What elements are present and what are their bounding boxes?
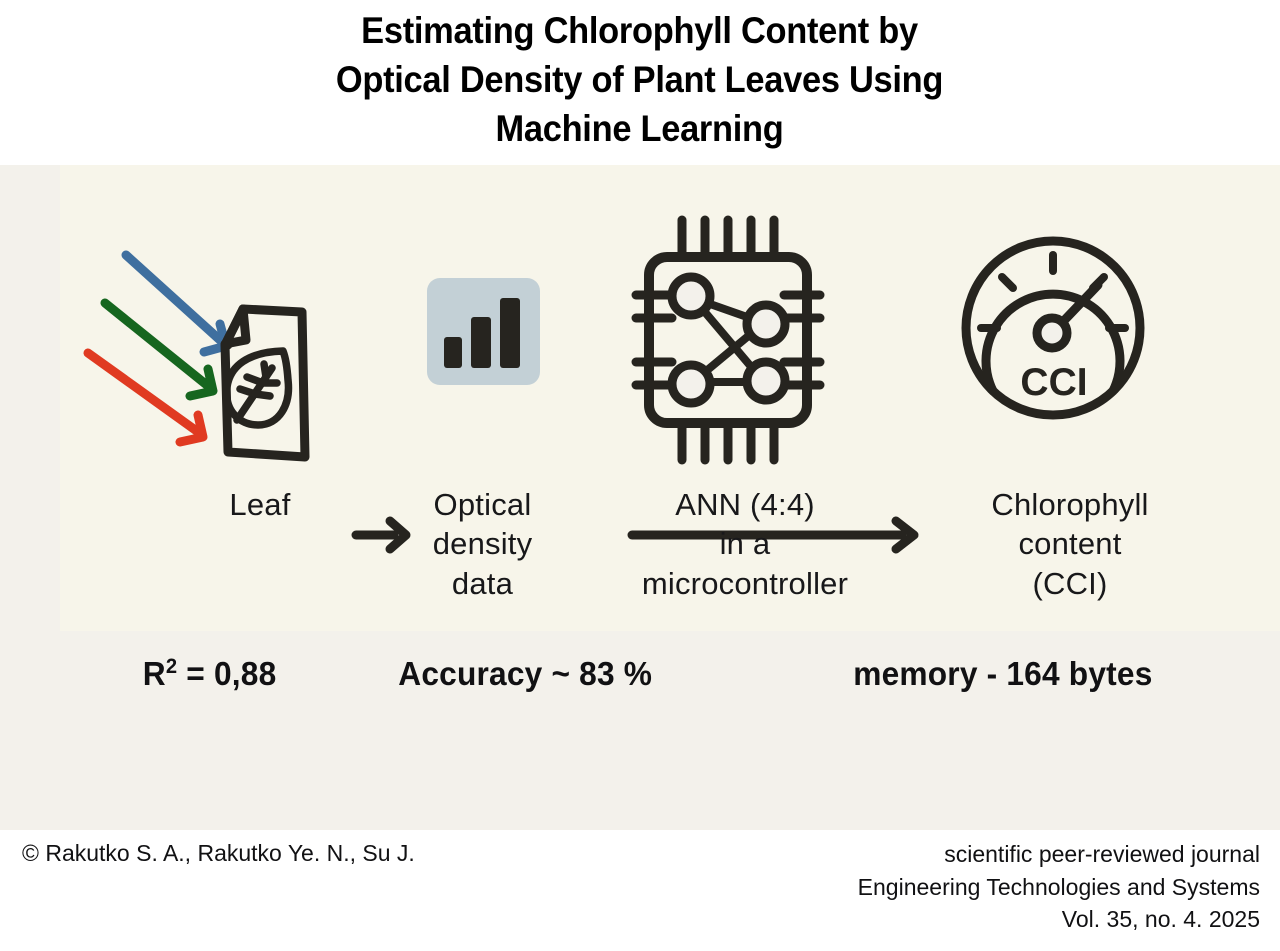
metrics-row: R2 = 0,88 Accuracy ~ 83 % memory - 164 b… — [0, 655, 1280, 715]
leaf-document-icon — [80, 220, 380, 480]
stage-label-optical-density: Optical density data — [385, 485, 580, 603]
leaf-glyph — [227, 351, 289, 425]
bar-chart-icon — [400, 220, 580, 480]
microchip-neural-network-icon — [600, 210, 880, 480]
gauge-icon: CCI — [950, 215, 1180, 475]
metric-r-squared-value: = 0,88 — [177, 655, 276, 692]
pipeline-icon-row: CCI — [0, 165, 1280, 495]
title-band: Estimating Chlorophyll Content by Optica… — [0, 0, 1280, 165]
metric-memory: memory - 164 bytes — [853, 655, 1152, 693]
page-title: Estimating Chlorophyll Content by Optica… — [336, 7, 943, 153]
gauge-hub — [1037, 318, 1067, 348]
journal-info: scientific peer-reviewed journal Enginee… — [858, 838, 1260, 936]
metric-r-squared: R2 = 0,88 — [143, 655, 277, 693]
metric-r-squared-superscript: 2 — [166, 655, 177, 678]
bar-3 — [500, 298, 520, 368]
stage-chlorophyll-content: CCI — [950, 215, 1180, 475]
stage-label-leaf: Leaf — [150, 485, 370, 524]
stage-optical-density — [400, 220, 580, 480]
bar-1 — [444, 337, 462, 368]
stage-label-ann-microcontroller: ANN (4:4) in a microcontroller — [595, 485, 895, 603]
stage-leaf — [80, 220, 380, 480]
bar-2 — [471, 317, 491, 368]
copyright-notice: © Rakutko S. A., Rakutko Ye. N., Su J. — [22, 840, 415, 867]
metric-r-squared-prefix: R — [143, 655, 166, 692]
footer: © Rakutko S. A., Rakutko Ye. N., Su J. s… — [0, 830, 1280, 951]
gauge-label: CCI — [1020, 361, 1087, 404]
metric-accuracy: Accuracy ~ 83 % — [398, 655, 652, 693]
stage-label-chlorophyll-content: Chlorophyll content (CCI) — [935, 485, 1205, 603]
graphical-abstract: CCI Leaf Optical density data ANN (4:4) … — [0, 165, 1280, 830]
stage-ann-microcontroller — [600, 210, 880, 480]
